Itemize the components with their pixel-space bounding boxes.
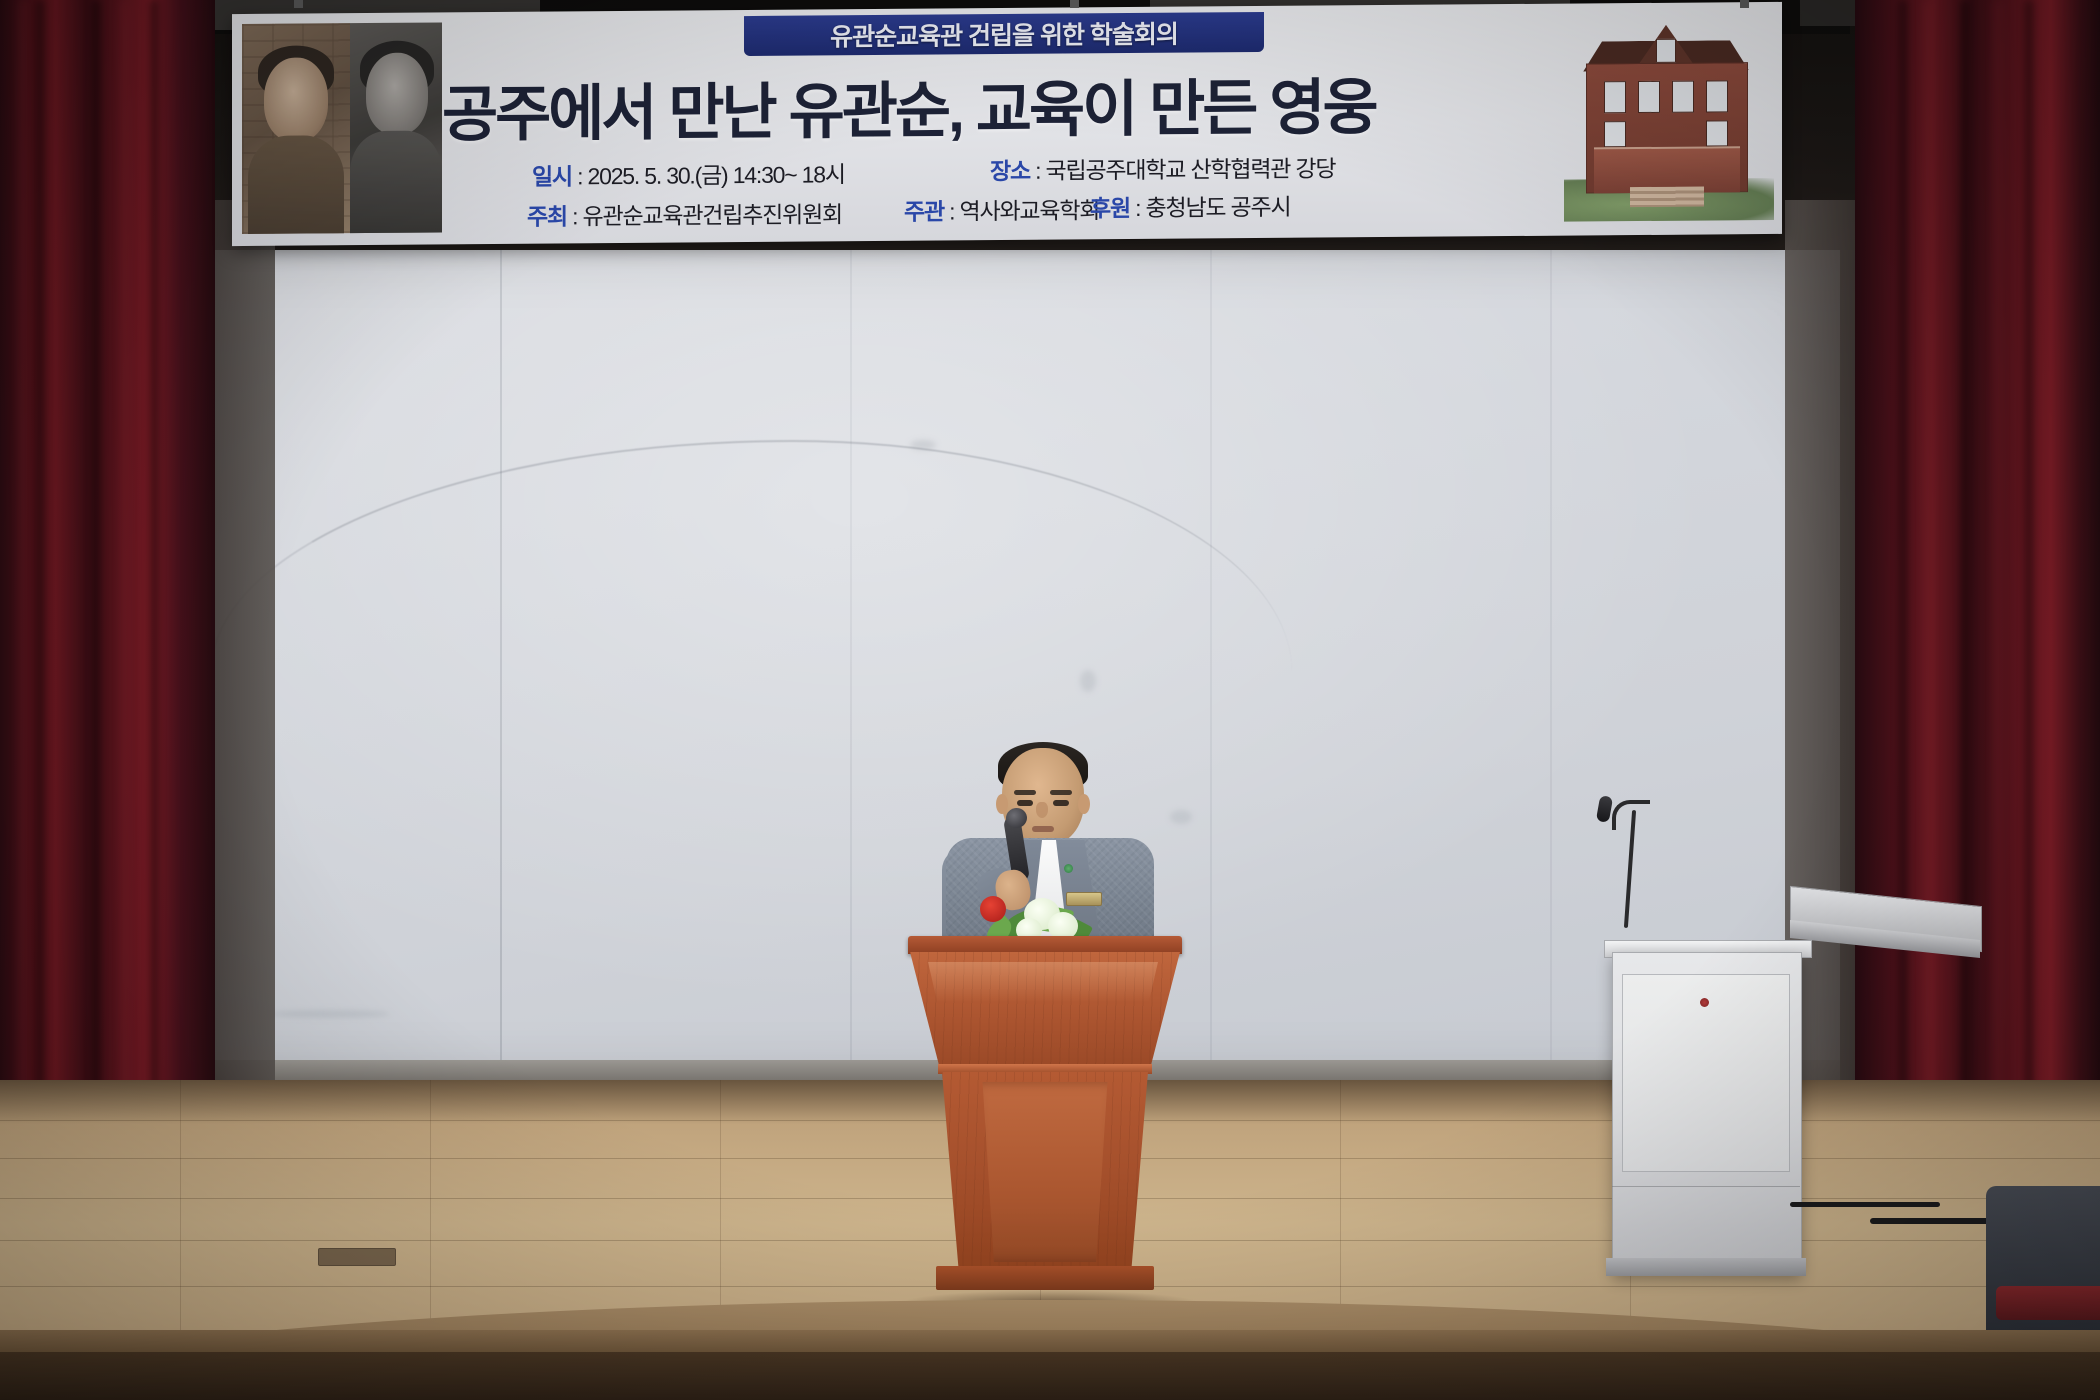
red-rose bbox=[980, 896, 1006, 922]
speaker-mouth bbox=[1032, 826, 1054, 832]
banner-hanger-left bbox=[294, 0, 303, 8]
banner-sponsor-sep: : bbox=[1135, 195, 1140, 221]
av-cable-1 bbox=[1790, 1202, 1940, 1207]
stage-curtain-left bbox=[0, 0, 215, 1160]
stage-edge-trim bbox=[0, 1330, 2100, 1354]
stage-curtain-right bbox=[1855, 0, 2100, 1160]
wooden-lectern bbox=[918, 936, 1172, 1298]
auditorium-stage-photo: 유관순교육관 건립을 위한 학술회의 공주에서 만난 유관순, 교육이 만든 영… bbox=[0, 0, 2100, 1400]
speaker-lapel-pin bbox=[1064, 864, 1073, 873]
floor-vent bbox=[318, 1248, 396, 1266]
banner-date-value: 2025. 5. 30.(금) 14:30~ 18시 bbox=[588, 161, 845, 189]
cabinet-lock-icon bbox=[1700, 998, 1709, 1007]
banner-ribbon: 유관순교육관 건립을 위한 학술회의 bbox=[744, 12, 1264, 56]
banner-date-sep: : bbox=[577, 163, 582, 189]
banner-building-illustration bbox=[1564, 18, 1774, 220]
banner-sponsor-line: 후원 : 충청남도 공주시 bbox=[1090, 188, 1290, 224]
banner-organizer-label: 주관 bbox=[904, 198, 944, 224]
banner-place-label: 장소 bbox=[990, 158, 1030, 184]
banner-place-value: 국립공주대학교 산학협력관 강당 bbox=[1046, 155, 1336, 183]
banner-date-line: 일시 : 2025. 5. 30.(금) 14:30~ 18시 bbox=[532, 155, 845, 191]
banner-sponsor-value: 충청남도 공주시 bbox=[1146, 194, 1291, 221]
banner-ribbon-text: 유관순교육관 건립을 위한 학술회의 bbox=[830, 15, 1178, 54]
banner-place-line: 장소 : 국립공주대학교 산학협력관 강당 bbox=[990, 149, 1335, 186]
banner-organizer-sep: : bbox=[949, 198, 954, 224]
chair-cushion bbox=[1996, 1286, 2100, 1320]
banner-portrait-right bbox=[350, 22, 442, 233]
banner-organizer-line: 주관 : 역사와교육학회 bbox=[904, 191, 1099, 227]
banner-date-label: 일시 bbox=[532, 163, 572, 189]
stage-front-face bbox=[0, 1352, 2100, 1400]
proscenium-wall-left bbox=[205, 200, 275, 1140]
banner-hanger-center bbox=[1070, 0, 1079, 8]
event-banner: 유관순교육관 건립을 위한 학술회의 공주에서 만난 유관순, 교육이 만든 영… bbox=[232, 2, 1782, 246]
banner-hanger-right bbox=[1740, 0, 1749, 8]
banner-host-label: 주최 bbox=[527, 203, 567, 229]
banner-host-value: 유관순교육관건립추진위원회 bbox=[583, 201, 842, 229]
banner-host-line: 주최 : 유관순교육관건립추진위원회 bbox=[527, 195, 842, 231]
banner-sponsor-label: 후원 bbox=[1090, 195, 1130, 221]
banner-portrait-left bbox=[242, 23, 350, 234]
banner-host-sep: : bbox=[572, 203, 577, 229]
banner-organizer-value: 역사와교육학회 bbox=[960, 197, 1100, 224]
cabinet-seam bbox=[1612, 1186, 1800, 1187]
banner-title: 공주에서 만난 유관순, 교육이 만든 영웅 bbox=[442, 55, 1602, 153]
cabinet-base bbox=[1606, 1258, 1806, 1276]
banner-place-sep: : bbox=[1035, 158, 1040, 184]
speaker-nose bbox=[1036, 802, 1048, 818]
